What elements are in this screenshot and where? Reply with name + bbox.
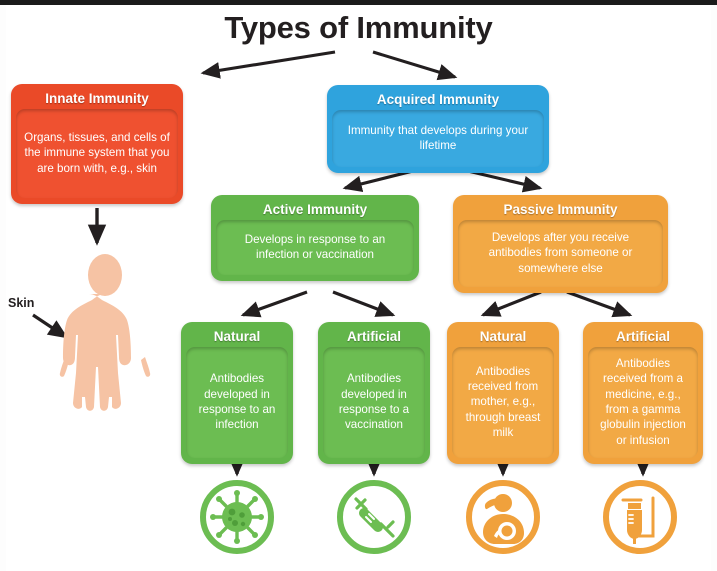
- node-passive-natural-body: Antibodies received from mother, e.g., t…: [452, 347, 554, 458]
- node-acquired-header: Acquired Immunity: [332, 90, 544, 110]
- node-active-natural-header: Natural: [186, 327, 288, 347]
- breastfeeding-icon: [466, 480, 540, 554]
- node-active-header: Active Immunity: [216, 200, 414, 220]
- human-body-figure-icon: [45, 253, 165, 428]
- node-active-immunity[interactable]: Active Immunity Develops in response to …: [211, 195, 419, 281]
- skin-label: Skin: [8, 296, 34, 310]
- node-active-artificial[interactable]: Artificial Antibodies developed in respo…: [318, 322, 430, 464]
- left-edge: [0, 5, 6, 571]
- syringe-icon: [337, 480, 411, 554]
- node-passive-artificial-body: Antibodies received from a medicine, e.g…: [588, 347, 698, 458]
- germ-icon: [200, 480, 274, 554]
- node-passive-natural[interactable]: Natural Antibodies received from mother,…: [447, 322, 559, 464]
- node-passive-body: Develops after you receive antibodies fr…: [458, 220, 663, 287]
- node-passive-artificial-header: Artificial: [588, 327, 698, 347]
- diagram-canvas: Types of Immunity: [0, 0, 717, 571]
- node-active-artificial-body: Antibodies developed in response to a va…: [323, 347, 425, 458]
- node-active-body: Develops in response to an infection or …: [216, 220, 414, 275]
- node-passive-header: Passive Immunity: [458, 200, 663, 220]
- node-active-natural-body: Antibodies developed in response to an i…: [186, 347, 288, 458]
- node-innate-body: Organs, tissues, and cells of the immune…: [16, 109, 178, 198]
- page-title: Types of Immunity: [0, 10, 717, 46]
- node-passive-artificial[interactable]: Artificial Antibodies received from a me…: [583, 322, 703, 464]
- node-active-natural[interactable]: Natural Antibodies developed in response…: [181, 322, 293, 464]
- node-acquired-immunity[interactable]: Acquired Immunity Immunity that develops…: [327, 85, 549, 173]
- node-acquired-body: Immunity that develops during your lifet…: [332, 110, 544, 167]
- right-edge: [711, 5, 717, 571]
- node-passive-immunity[interactable]: Passive Immunity Develops after you rece…: [453, 195, 668, 293]
- top-border-bar: [0, 0, 717, 5]
- iv-drip-icon: [603, 480, 677, 554]
- node-active-artificial-header: Artificial: [323, 327, 425, 347]
- node-passive-natural-header: Natural: [452, 327, 554, 347]
- node-innate-header: Innate Immunity: [16, 89, 178, 109]
- node-innate-immunity[interactable]: Innate Immunity Organs, tissues, and cel…: [11, 84, 183, 204]
